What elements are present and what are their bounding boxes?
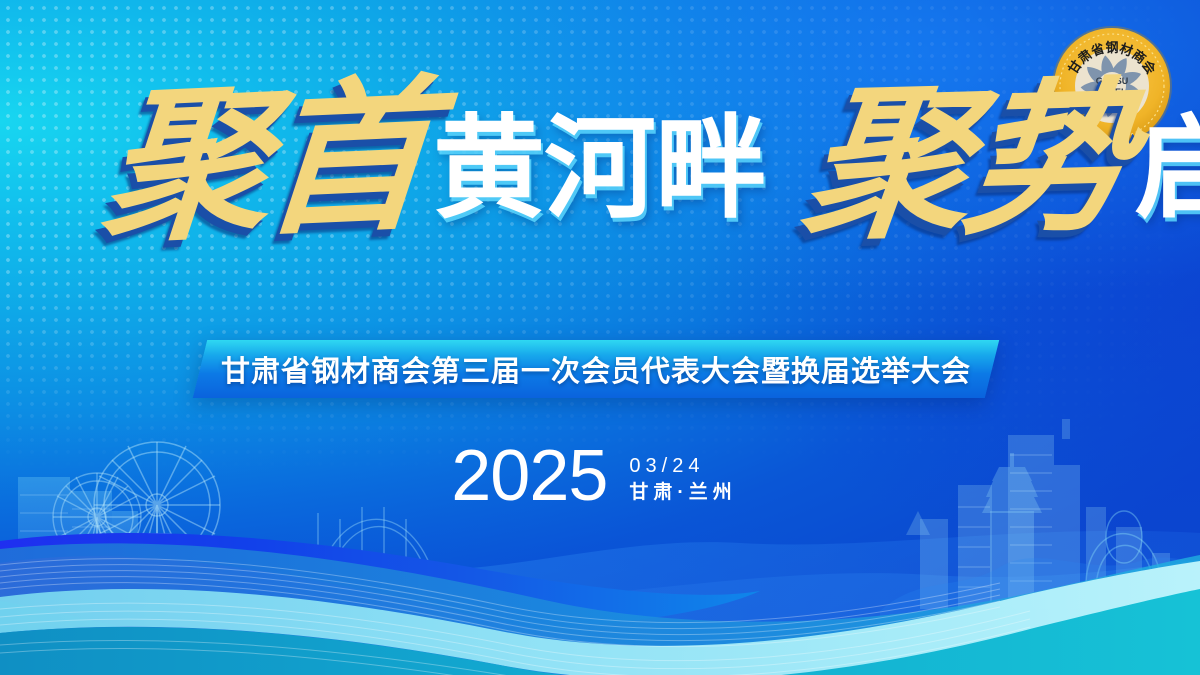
conference-poster: GANSU STEEL 甘肃省钢材商会 聚首 黄河畔 聚势 启新程 甘肃省钢材商… — [0, 0, 1200, 675]
headline-regular-2: 启新程 — [1134, 114, 1200, 226]
headline-group-1: 聚首 黄河畔 — [105, 88, 766, 240]
headline-group-2: 聚势 启新程 — [806, 88, 1200, 240]
headline-row: 聚首 黄河畔 聚势 启新程 — [105, 88, 1200, 240]
event-year: 2025 — [451, 440, 607, 512]
subtitle-text: 甘肃省钢材商会第三届一次会员代表大会暨换届选举大会 — [200, 340, 992, 398]
date-block: 2025 03/24 甘肃·兰州 — [0, 440, 1200, 512]
headline-calligraphy-2: 聚势 — [797, 84, 1137, 244]
wave-ribbons — [0, 505, 1200, 675]
headline: 聚首 黄河畔 聚势 启新程 — [0, 88, 1200, 298]
event-location: 甘肃·兰州 — [629, 483, 736, 502]
event-month-day: 03/24 — [629, 456, 736, 476]
headline-regular-1: 黄河畔 — [433, 114, 766, 226]
headline-calligraphy-1: 聚首 — [98, 81, 433, 247]
